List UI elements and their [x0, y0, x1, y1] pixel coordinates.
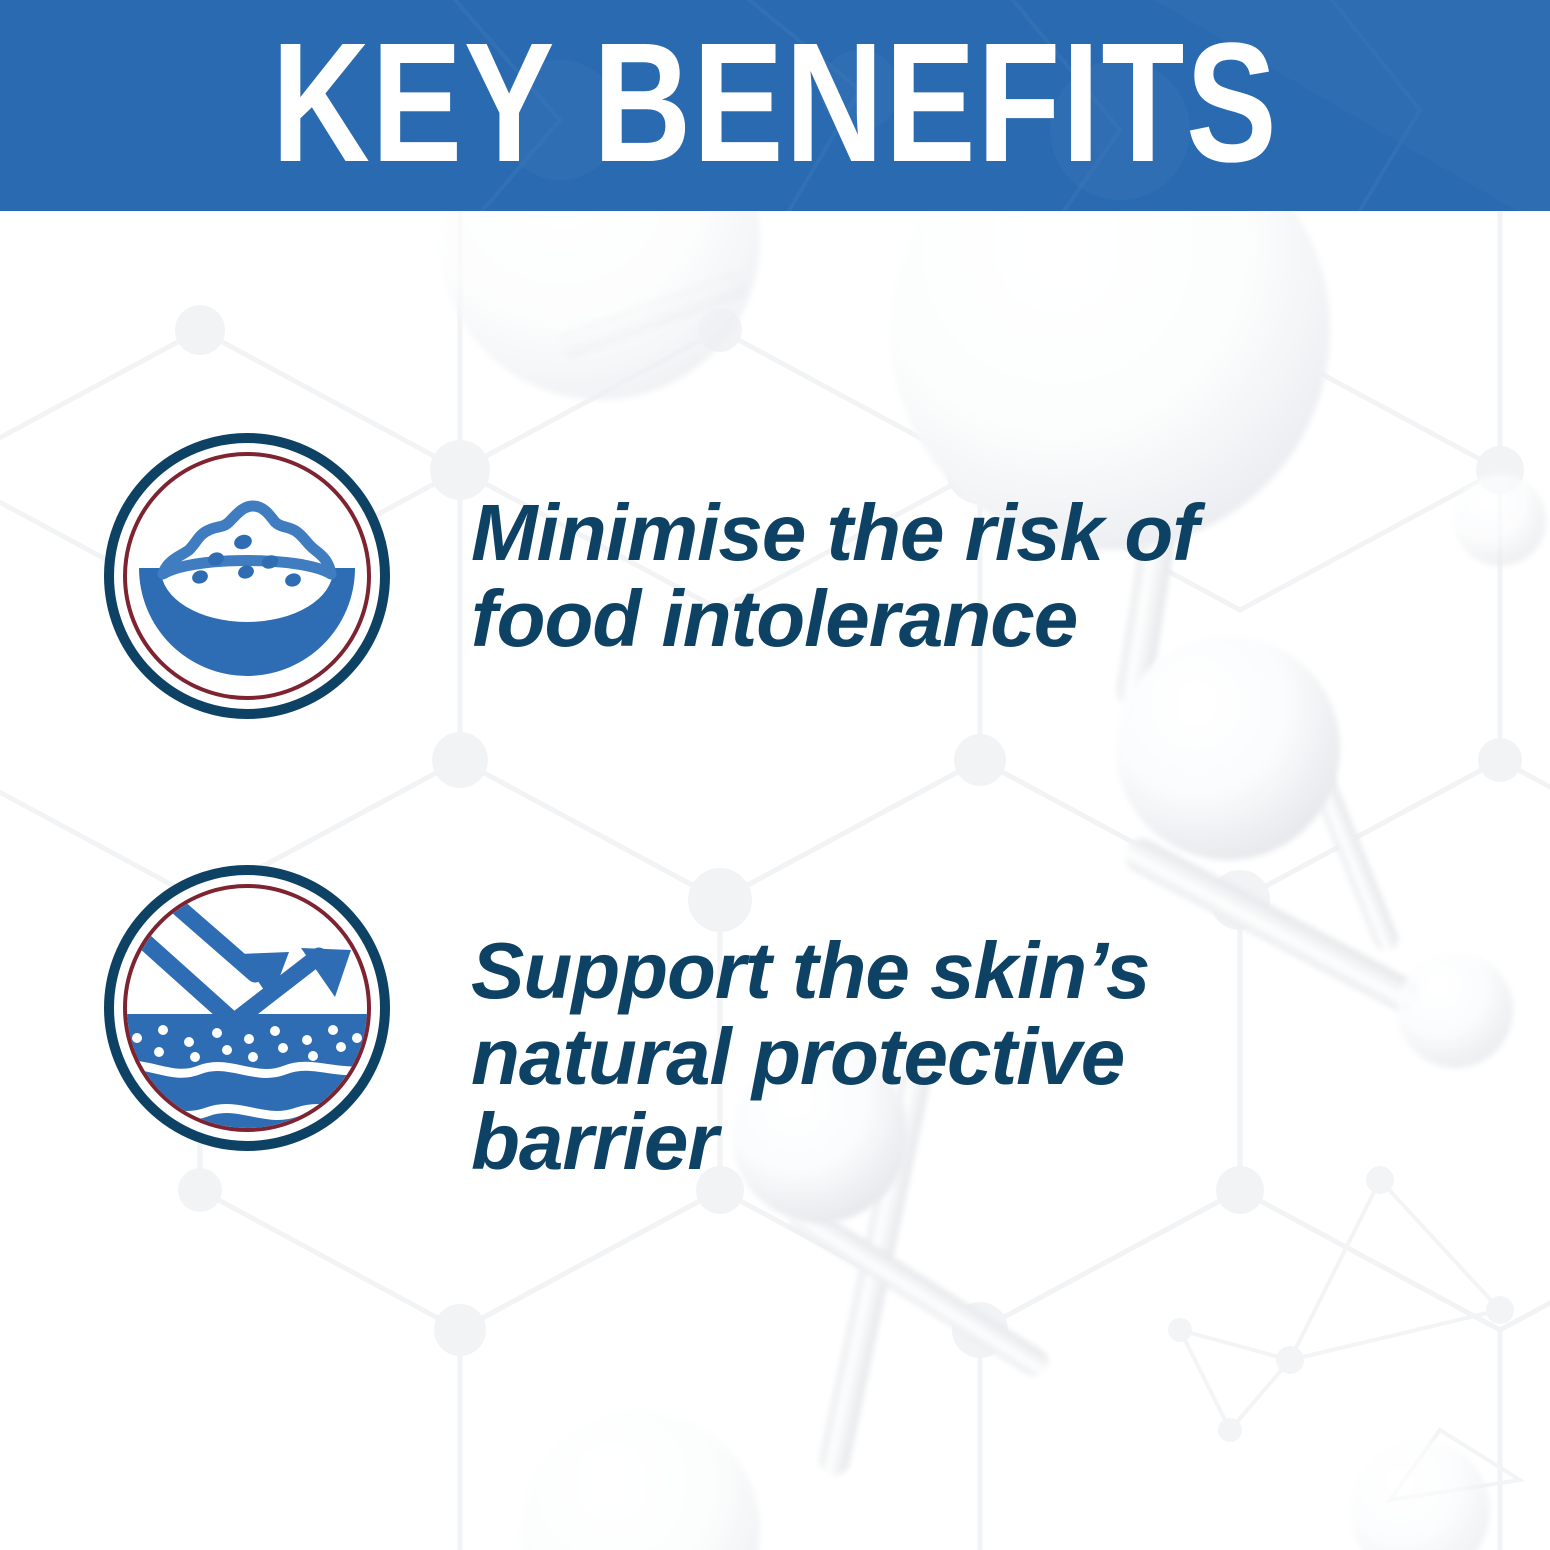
food-bowl-icon [103, 432, 391, 720]
key-benefits-panel: KEY BENEFITS [0, 0, 1550, 1550]
benefit-item-food-intolerance: Minimise the risk of food intolerance [103, 432, 1351, 720]
page-title: KEY BENEFITS [155, 0, 1395, 211]
benefit-item-skin-barrier: Support the skin’s natural protective ba… [103, 832, 1351, 1185]
hex-lattice-background [0, 0, 1550, 1550]
header-band: KEY BENEFITS [0, 0, 1550, 211]
molecule-spheres-background [0, 0, 1550, 1550]
skin-barrier-icon [103, 864, 391, 1152]
benefit-label: Support the skin’s natural protective ba… [471, 928, 1351, 1185]
benefit-label: Minimise the risk of food intolerance [471, 490, 1351, 661]
